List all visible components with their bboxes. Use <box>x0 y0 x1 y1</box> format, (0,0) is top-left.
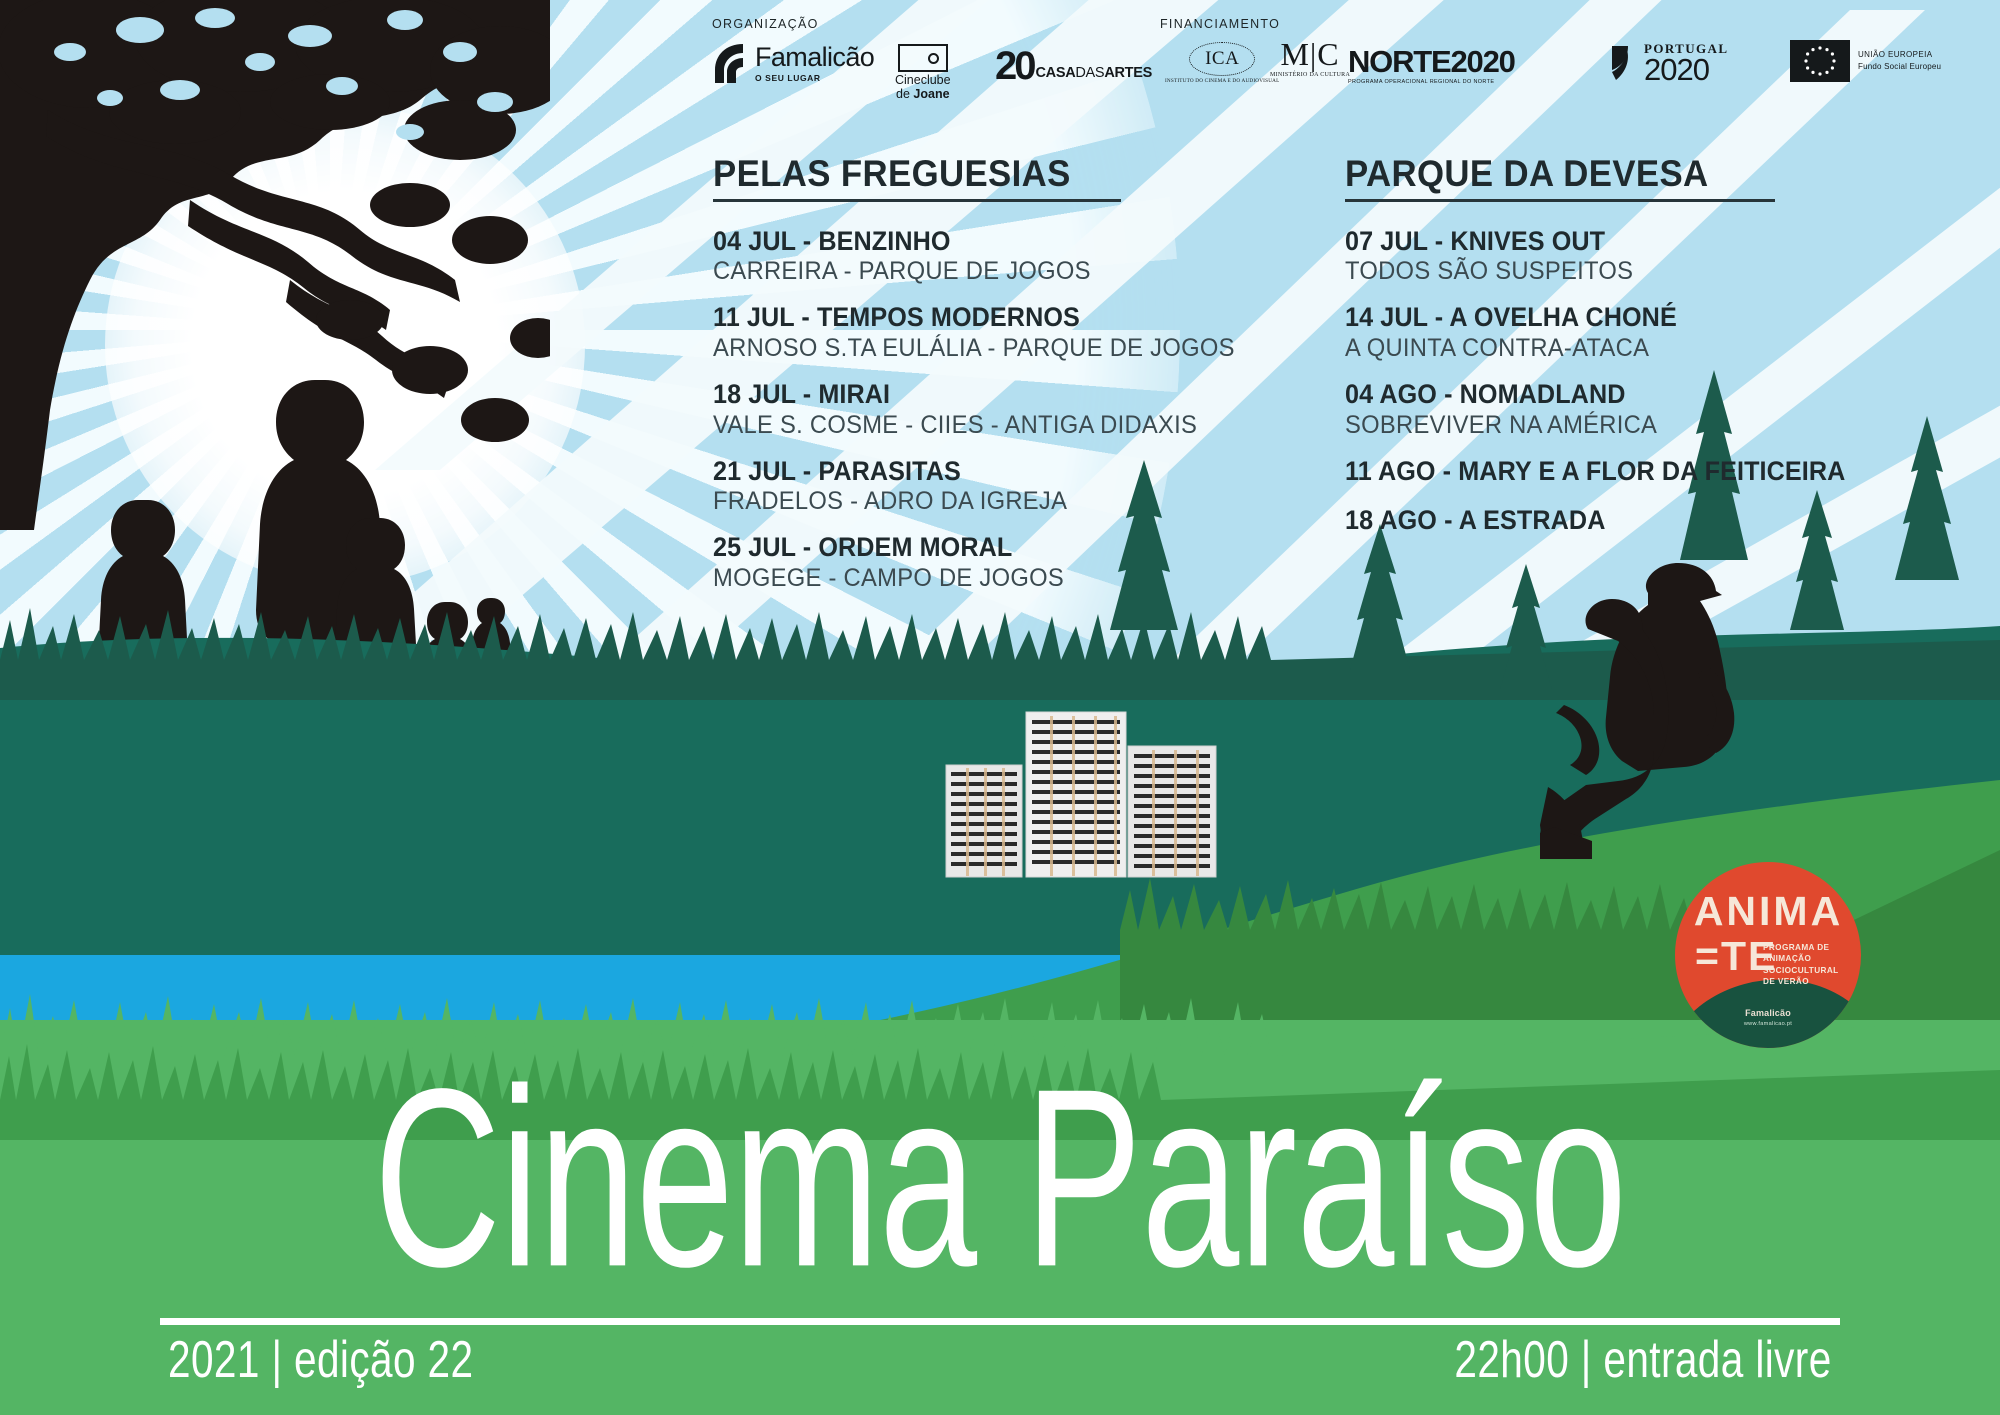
logo-ica[interactable]: ICA INSTITUTO DO CINEMA E DO AUDIOVISUAL <box>1165 42 1279 85</box>
event-title: 11 AGO - MARY E A FLOR DA FEITICEIRA <box>1345 457 1934 487</box>
cineclube-dot-icon <box>928 53 939 64</box>
event-title: 04 JUL - BENZINHO <box>713 227 1283 257</box>
anima-te-badge[interactable]: ANIMA =TE PROGRAMA DE ANIMAÇÃO SOCIOCULT… <box>1675 862 1861 1048</box>
cineclube-joane: Joane <box>913 87 949 101</box>
event-item[interactable]: 04 AGO - NOMADLAND SOBREVIVER NA AMÉRICA <box>1345 380 1965 440</box>
event-subtitle: FRADELOS - ADRO DA IGREJA <box>713 487 1283 516</box>
column-heading: PELAS FREGUESIAS <box>713 155 1277 192</box>
logo-casa-das-artes[interactable]: 20 CASADASARTES <box>995 50 1152 83</box>
event-subtitle: VALE S. COSME - CIIES - ANTIGA DIDAXIS <box>713 411 1283 440</box>
eu-line1: UNIÃO EUROPEIA <box>1858 49 1941 61</box>
event-item[interactable]: 25 JUL - ORDEM MORAL MOGEGE - CAMPO DE J… <box>713 533 1313 593</box>
casa-artes-name: CASADASARTES <box>1036 65 1152 83</box>
event-item[interactable]: 11 AGO - MARY E A FLOR DA FEITICEIRA <box>1345 457 1965 487</box>
poster-canvas: ORGANIZAÇÃO FINANCIAMENTO Famalicão O SE… <box>0 0 2000 1415</box>
event-item[interactable]: 04 JUL - BENZINHO CARREIRA - PARQUE DE J… <box>713 227 1313 287</box>
event-subtitle: ARNOSO S.TA EULÁLIA - PARQUE DE JOGOS <box>713 334 1283 363</box>
mc-subtitle: MINISTÉRIO DA CULTURA <box>1270 72 1350 78</box>
anima-te-footer: Famalicão www.famalicao.pt <box>1675 1008 1861 1027</box>
logo-ministerio-cultura[interactable]: M|C MINISTÉRIO DA CULTURA <box>1270 40 1350 78</box>
event-title: 21 JUL - PARASITAS <box>713 457 1283 487</box>
column-heading-rule <box>1345 199 1775 202</box>
footer-time-entry: 22h00 | entrada livre <box>1455 1332 1832 1389</box>
event-subtitle: SOBREVIVER NA AMÉRICA <box>1345 411 1934 440</box>
organizacao-label: ORGANIZAÇÃO <box>712 17 819 31</box>
norte2020-subtitle: PROGRAMA OPERACIONAL REGIONAL DO NORTE <box>1348 79 1494 85</box>
anima-te-description: PROGRAMA DE ANIMAÇÃO SOCIOCULTURAL DE VE… <box>1763 942 1853 987</box>
poster-title-block: Cinema Paraíso <box>0 1060 2000 1260</box>
event-title: 18 JUL - MIRAI <box>713 380 1283 410</box>
logo-uniao-europeia[interactable]: UNIÃO EUROPEIA Fundo Social Europeu <box>1790 40 1941 82</box>
cineclube-line1: Cineclube <box>895 74 951 88</box>
column-heading: PARQUE DA DEVESA <box>1345 155 1928 192</box>
event-item[interactable]: 14 JUL - A OVELHA CHONÉ A QUINTA CONTRA-… <box>1345 303 1965 363</box>
anima-te-line1: ANIMA <box>1691 892 1846 931</box>
event-item[interactable]: 18 AGO - A ESTRADA <box>1345 506 1965 536</box>
event-title: 18 AGO - A ESTRADA <box>1345 506 1934 536</box>
program-column-pelas-freguesias: PELAS FREGUESIAS 04 JUL - BENZINHO CARRE… <box>713 155 1313 610</box>
cineclube-frame-icon <box>898 44 948 72</box>
poster-footer: 2021 | edição 22 22h00 | entrada livre <box>0 1332 2000 1389</box>
event-item[interactable]: 18 JUL - MIRAI VALE S. COSME - CIIES - A… <box>713 380 1313 440</box>
anima-footer-brand: Famalicão <box>1675 1008 1861 1018</box>
column-heading-rule <box>713 199 1121 202</box>
event-item[interactable]: 21 JUL - PARASITAS FRADELOS - ADRO DA IG… <box>713 457 1313 517</box>
ica-oval-icon: ICA <box>1189 42 1255 76</box>
event-item[interactable]: 11 JUL - TEMPOS MODERNOS ARNOSO S.TA EUL… <box>713 303 1313 363</box>
anima-footer-url: www.famalicao.pt <box>1675 1021 1861 1027</box>
portugal2020-mark-icon <box>1608 44 1638 84</box>
famalicao-tagline: O SEU LUGAR <box>755 74 874 83</box>
event-subtitle: A QUINTA CONTRA-ATACA <box>1345 334 1934 363</box>
logo-norte2020[interactable]: NORTE2020 PROGRAMA OPERACIONAL REGIONAL … <box>1348 48 1515 85</box>
event-subtitle: TODOS SÃO SUSPEITOS <box>1345 257 1934 286</box>
event-title: 25 JUL - ORDEM MORAL <box>713 533 1283 563</box>
event-subtitle: MOGEGE - CAMPO DE JOGOS <box>713 564 1283 593</box>
poster-title: Cinema Paraíso <box>180 1060 1820 1296</box>
event-item[interactable]: 07 JUL - KNIVES OUT TODOS SÃO SUSPEITOS <box>1345 227 1965 287</box>
casa-artes-20: 20 <box>995 50 1034 83</box>
event-title: 07 JUL - KNIVES OUT <box>1345 227 1934 257</box>
financiamento-label: FINANCIAMENTO <box>1160 17 1280 31</box>
event-title: 04 AGO - NOMADLAND <box>1345 380 1934 410</box>
seated-couple-silhouette <box>1540 555 1840 875</box>
logo-cineclube-joane[interactable]: Cineclube de Joane <box>895 44 951 101</box>
program-column-parque-da-devesa: PARQUE DA DEVESA 07 JUL - KNIVES OUT TOD… <box>1345 155 1965 556</box>
sponsor-logos-bar: ORGANIZAÇÃO FINANCIAMENTO Famalicão O SE… <box>0 0 2000 110</box>
famalicao-name: Famalicão <box>755 44 874 71</box>
eu-flag-icon <box>1790 40 1850 82</box>
norte2020-name: NORTE2020 <box>1348 48 1515 76</box>
famalicao-mark-icon <box>712 42 746 84</box>
event-title: 14 JUL - A OVELHA CHONÉ <box>1345 303 1934 333</box>
ica-subtitle: INSTITUTO DO CINEMA E DO AUDIOVISUAL <box>1165 78 1279 85</box>
footer-edition: 2021 | edição 22 <box>168 1332 473 1389</box>
logo-portugal2020[interactable]: PORTUGAL 2020 <box>1608 42 1728 85</box>
title-underline <box>160 1318 1840 1325</box>
portugal2020-year: 2020 <box>1644 54 1728 85</box>
mc-acronym: M|C <box>1280 40 1339 69</box>
eu-line2: Fundo Social Europeu <box>1858 61 1941 73</box>
cineclube-prefix: de <box>896 87 913 101</box>
logo-famalicao[interactable]: Famalicão O SEU LUGAR <box>712 42 874 84</box>
event-subtitle: CARREIRA - PARQUE DE JOGOS <box>713 257 1283 286</box>
ica-acronym: ICA <box>1205 48 1239 70</box>
cineclube-line2: de Joane <box>896 88 950 102</box>
event-title: 11 JUL - TEMPOS MODERNOS <box>713 303 1283 333</box>
